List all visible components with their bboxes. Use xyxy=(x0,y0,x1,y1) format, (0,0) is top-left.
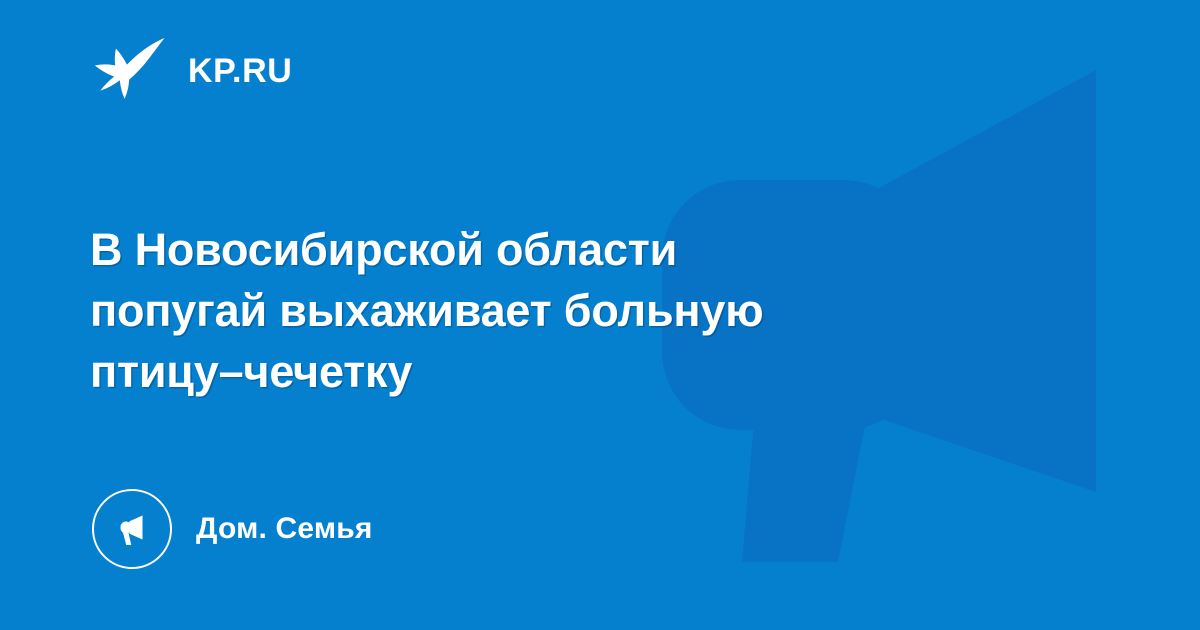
headline-line-3: птицу–чечетку xyxy=(90,341,990,402)
category-badge xyxy=(92,489,172,569)
headline-line-2: попугай выхаживает больную xyxy=(90,280,990,341)
headline: В Новосибирской области попугай выхажива… xyxy=(90,219,990,402)
brand-name: KP.RU xyxy=(188,54,292,88)
category-tag[interactable]: Дом. Семья xyxy=(92,489,373,569)
swallow-bird-icon xyxy=(90,35,166,107)
category-label: Дом. Семья xyxy=(196,514,373,544)
megaphone-icon xyxy=(112,509,152,549)
brand-logo[interactable]: KP.RU xyxy=(90,32,292,110)
headline-line-1: В Новосибирской области xyxy=(90,219,990,280)
share-card: KP.RU В Новосибирской области попугай вы… xyxy=(0,0,1200,630)
